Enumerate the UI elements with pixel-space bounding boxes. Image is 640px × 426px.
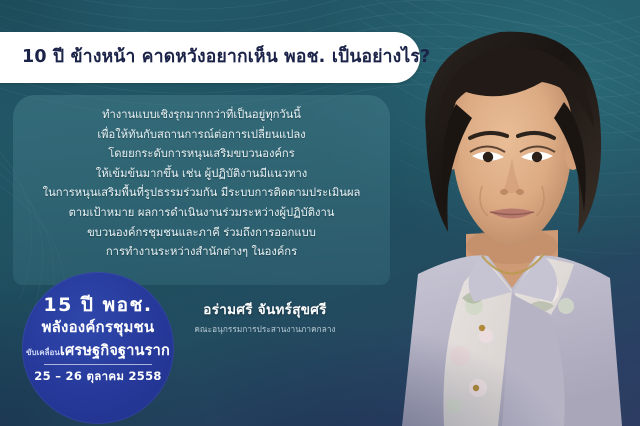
logo-theme-main: เศรษฐกิจฐานราก bbox=[60, 343, 170, 359]
logo-line-theme: ขับเคลื่อนเศรษฐกิจฐานราก bbox=[26, 341, 170, 361]
logo-theme-prefix: ขับเคลื่อน bbox=[26, 348, 60, 357]
speaker-name: อร่ามศรี จันทร์สุขศรี bbox=[150, 298, 380, 320]
event-logo: 15 ปี พอช. พลังองค์กรชุมชน ขับเคลื่อนเศร… bbox=[22, 272, 174, 424]
title-banner: 10 ปี ข้างหน้า คาดหวังอยากเห็น พอช. เป็น… bbox=[0, 32, 420, 83]
logo-line-tagline: พลังองค์กรชุมชน bbox=[42, 317, 155, 337]
body-text: ทำงานแบบเชิงรุกมากกว่าที่เป็นอยู่ทุกวันน… bbox=[19, 105, 384, 262]
speaker-role: คณะอนุกรรมการประสานงานภาคกลาง bbox=[150, 323, 380, 336]
logo-line-anniversary: 15 ปี พอช. bbox=[43, 294, 152, 316]
speaker-credit: อร่ามศรี จันทร์สุขศรี คณะอนุกรรมการประสา… bbox=[150, 298, 380, 336]
logo-divider bbox=[44, 364, 152, 365]
body-text-panel: ทำงานแบบเชิงรุกมากกว่าที่เป็นอยู่ทุกวันน… bbox=[13, 95, 390, 285]
event-date: 25 – 26 ตุลาคม 2558 bbox=[34, 368, 161, 386]
slide-canvas: ทำงานแบบเชิงรุกมากกว่าที่เป็นอยู่ทุกวันน… bbox=[0, 0, 640, 426]
slide-title: 10 ปี ข้างหน้า คาดหวังอยากเห็น พอช. เป็น… bbox=[0, 42, 430, 73]
